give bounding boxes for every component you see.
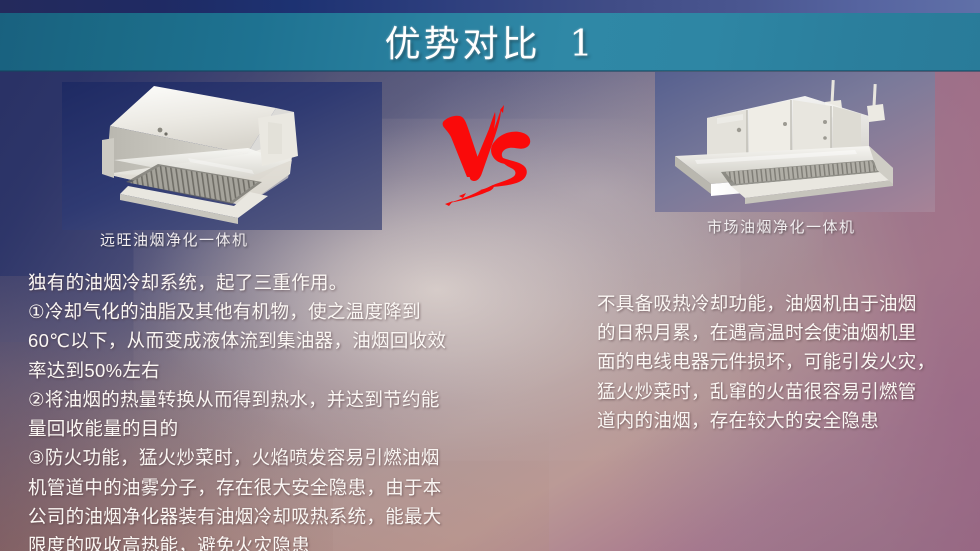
left-line-3: 60℃以下，从而变成液体流到集油器，油烟回收效 (28, 326, 506, 355)
right-line-4: 猛火炒菜时，乱窜的火苗很容易引燃管 (597, 377, 969, 406)
left-line-4: 率达到50%左右 (28, 356, 506, 385)
left-line-2: ①冷却气化的油脂及其他有机物，使之温度降到 (28, 297, 506, 326)
left-description-block: 独有的油烟冷却系统，起了三重作用。 ①冷却气化的油脂及其他有机物，使之温度降到 … (28, 268, 506, 551)
range-hood-right-icon (655, 72, 935, 212)
page-title: 优势对比 1 (385, 15, 596, 67)
range-hood-left-icon (62, 82, 382, 230)
right-description-block: 不具备吸热冷却功能，油烟机由于油烟 的日积月累，在遇高温时会使油烟机里 面的电线… (597, 289, 969, 435)
right-line-5: 道内的油烟，存在较大的安全隐患 (597, 406, 969, 435)
right-line-3: 面的电线电器元件损坏，可能引发火灾， (597, 347, 969, 376)
product-caption-right: 市场油烟净化一体机 (707, 216, 856, 237)
product-image-right (655, 72, 935, 212)
left-line-7: ③防火功能，猛火炒菜时，火焰喷发容易引燃油烟 (28, 443, 506, 472)
left-line-5: ②将油烟的热量转换从而得到热水，并达到节约能 (28, 385, 506, 414)
product-caption-left: 远旺油烟净化一体机 (100, 229, 249, 250)
vs-badge (437, 103, 547, 208)
left-line-6: 量回收能量的目的 (28, 414, 506, 443)
vs-brush-icon (437, 103, 547, 208)
right-line-1: 不具备吸热冷却功能，油烟机由于油烟 (597, 289, 969, 318)
product-image-left (62, 82, 382, 230)
right-line-2: 的日积月累，在遇高温时会使油烟机里 (597, 318, 969, 347)
left-line-9: 公司的油烟净化器装有油烟冷却吸热系统，能最大 (28, 502, 506, 531)
left-line-1: 独有的油烟冷却系统，起了三重作用。 (28, 268, 506, 297)
top-accent-strip (0, 0, 980, 13)
slide-canvas: 优势对比 1 (0, 0, 980, 551)
left-line-10: 限度的吸收高热能，避免火灾隐患 (28, 531, 506, 551)
left-line-8: 机管道中的油雾分子，存在很大安全隐患，由于本 (28, 473, 506, 502)
title-banner: 优势对比 1 (0, 13, 980, 71)
